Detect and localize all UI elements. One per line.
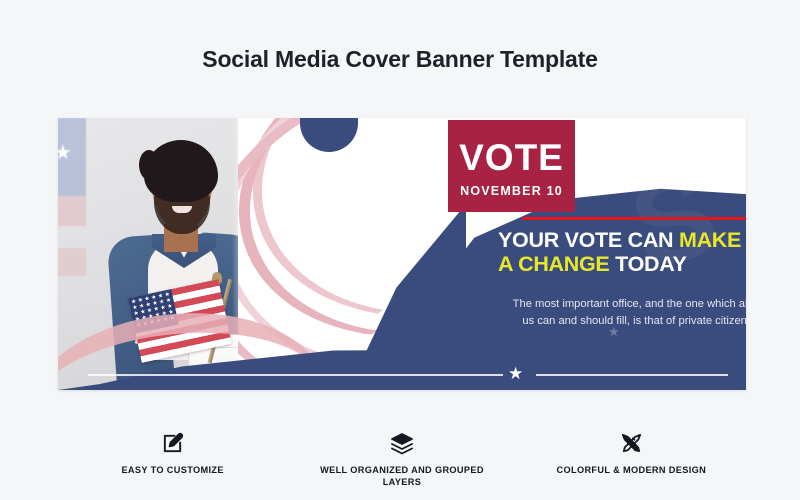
feature-label-layers: WELL ORGANIZED AND GROUPED LAYERS (302, 464, 502, 489)
banner-paragraph: The most important office, and the one w… (498, 296, 746, 329)
headline-line-1: YOUR VOTE CAN MAKE (498, 228, 746, 252)
hair (144, 140, 218, 202)
pencil-ruler-icon (531, 430, 731, 456)
divider-line-right (536, 374, 728, 376)
star-divider: ★ (88, 368, 728, 382)
page-root: Social Media Cover Banner Template ★ (0, 0, 800, 500)
headline: YOUR VOTE CAN MAKE A CHANGE TODAY (498, 228, 746, 276)
feature-item-design: COLORFUL & MODERN DESIGN (531, 430, 731, 476)
red-rule-divider (522, 217, 746, 220)
feature-label-design: COLORFUL & MODERN DESIGN (531, 464, 731, 476)
headline-line-1-plain: YOUR VOTE CAN (498, 228, 679, 252)
feature-row: EASY TO CUSTOMIZE WELL ORGANIZED AND GRO… (58, 430, 746, 489)
headline-line-2-plain: TODAY (615, 252, 686, 276)
vote-badge: VOTE NOVEMBER 10 (448, 120, 575, 212)
feature-label-customize: EASY TO CUSTOMIZE (73, 464, 273, 476)
feature-item-layers: WELL ORGANIZED AND GROUPED LAYERS (302, 430, 502, 489)
feature-item-customize: EASY TO CUSTOMIZE (73, 430, 273, 476)
headline-line-1-highlight: MAKE (679, 228, 741, 252)
cover-banner: ★ (58, 118, 746, 390)
faded-flag-star-icon: ★ (58, 140, 72, 165)
page-title: Social Media Cover Banner Template (0, 46, 800, 73)
divider-line-left (88, 374, 503, 376)
divider-star-icon: ★ (508, 364, 523, 384)
headline-line-2-highlight: A CHANGE (498, 252, 615, 276)
vote-word: VOTE (448, 139, 575, 176)
headline-line-2: A CHANGE TODAY (498, 252, 746, 276)
edit-square-icon (73, 430, 273, 456)
layers-icon (302, 430, 502, 456)
vote-date: NOVEMBER 10 (448, 184, 575, 198)
